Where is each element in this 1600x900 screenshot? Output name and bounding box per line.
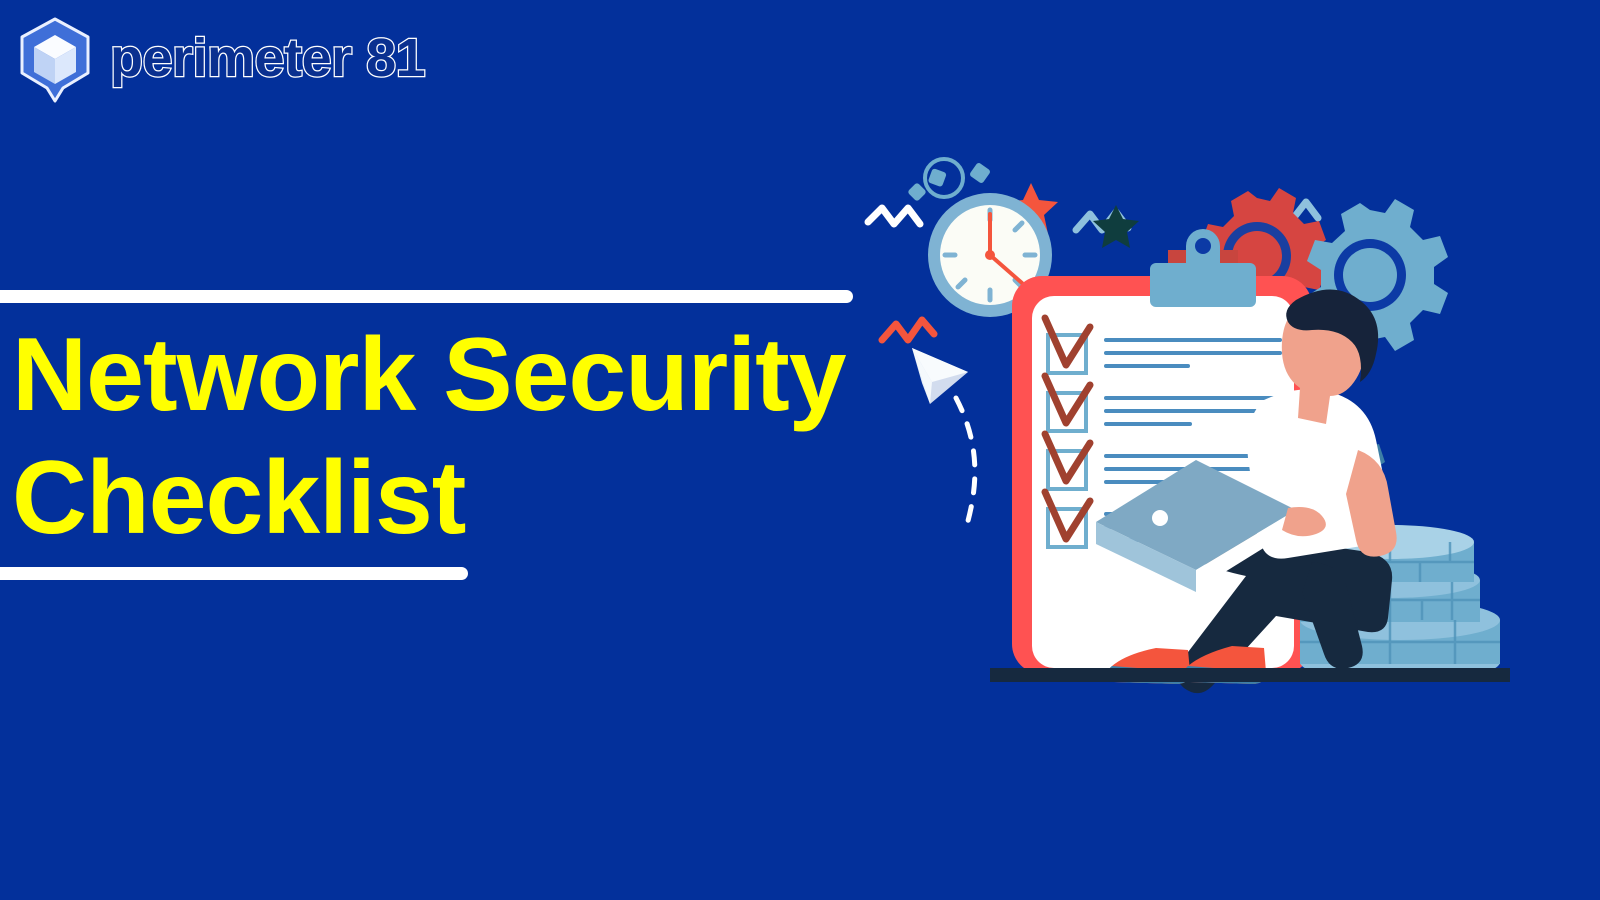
perimeter81-hexagon-cube-logo-icon: [14, 16, 96, 104]
page-title-line-1: Network Security: [0, 314, 900, 437]
checklist-clipboard-scene: [860, 150, 1520, 710]
brand-wordmark: perimeter 81: [110, 31, 425, 89]
ground-shadow-bar: [990, 668, 1510, 682]
title-block: Network Security Checklist: [0, 290, 900, 580]
title-rule-bottom: [0, 567, 468, 580]
brand-logo[interactable]: perimeter 81: [14, 14, 444, 106]
paper-airplane-icon: [912, 348, 968, 404]
star-icon-dark: [1093, 205, 1139, 248]
airplane-trail: [956, 398, 975, 528]
poster-canvas: perimeter 81 Network Security Checklist: [0, 0, 1600, 900]
title-rule-top: [0, 290, 853, 303]
page-title-line-2: Checklist: [0, 437, 900, 560]
